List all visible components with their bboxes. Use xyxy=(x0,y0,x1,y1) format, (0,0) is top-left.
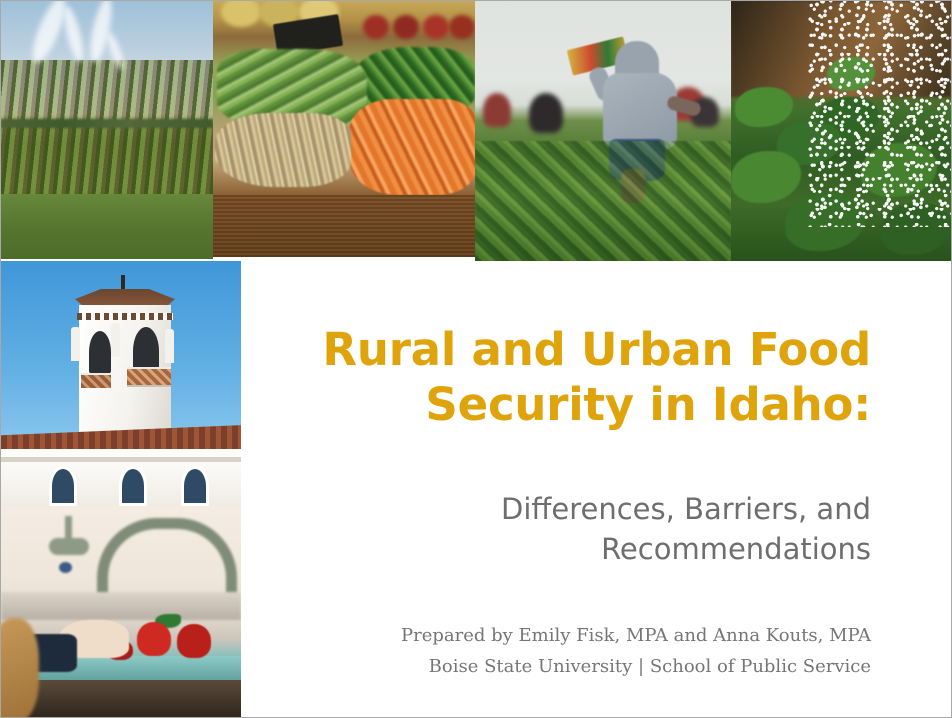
squash xyxy=(221,1,261,27)
tower-arch-opening xyxy=(89,331,111,373)
image-aerial-crop-field-rows xyxy=(1,1,213,259)
cloud-streak xyxy=(104,31,126,72)
onion-roots xyxy=(215,113,351,187)
worker-torso xyxy=(603,73,677,149)
facade-ledge xyxy=(1,457,241,462)
leaf xyxy=(731,151,801,203)
burlap-table-surface xyxy=(213,195,475,257)
tower-pinnacle xyxy=(71,327,80,361)
arched-window xyxy=(119,466,147,506)
apple xyxy=(363,15,389,39)
image-farm-worker-carrying-crate xyxy=(475,1,731,261)
strawberry xyxy=(137,622,171,656)
arched-window xyxy=(181,466,209,506)
title-text-pane: Rural and Urban Food Security in Idaho: … xyxy=(241,261,951,717)
byline-affiliation: Boise State University | School of Publi… xyxy=(271,652,871,683)
strawberry xyxy=(177,624,211,658)
tower-pinnacle xyxy=(165,329,174,363)
kitchen-backsplash xyxy=(1,592,241,620)
image-boise-depot-tower xyxy=(1,261,241,506)
byline: Prepared by Emily Fisk, MPA and Anna Kou… xyxy=(271,621,871,683)
presentation-title-slide: Rural and Urban Food Security in Idaho: … xyxy=(0,0,952,718)
faucet xyxy=(97,518,237,595)
page-title-line-1: Rural and Urban Food xyxy=(322,323,871,376)
page-subtitle: Differences, Barriers, and Recommendatio… xyxy=(271,489,871,569)
water-spray-droplets xyxy=(807,1,951,227)
background-worker xyxy=(529,93,563,133)
apple xyxy=(449,15,475,39)
dentil-belt-course xyxy=(77,313,173,320)
page-subtitle-line-2: Recommendations xyxy=(601,532,871,566)
apple xyxy=(423,15,449,39)
apple xyxy=(393,15,419,39)
image-watering-garden-greens xyxy=(731,1,951,261)
faucet-knob xyxy=(59,562,72,573)
sink-sprayer-head xyxy=(49,538,89,555)
leaf xyxy=(735,87,793,127)
image-child-reaching-strawberries xyxy=(1,506,241,718)
horizon-tree-line xyxy=(1,119,213,128)
crop-foliage xyxy=(475,141,731,261)
byline-authors: Prepared by Emily Fisk, MPA and Anna Kou… xyxy=(271,621,871,652)
cloud-streak xyxy=(60,4,87,63)
page-title-line-2: Security in Idaho: xyxy=(425,378,871,431)
tower-balcony xyxy=(127,367,171,387)
child-hair xyxy=(1,618,39,718)
page-title: Rural and Urban Food Security in Idaho: xyxy=(271,323,871,433)
arched-window xyxy=(49,466,77,506)
carrot-bundle xyxy=(349,99,475,195)
image-farmers-market-produce xyxy=(213,1,475,257)
tower-finial xyxy=(121,275,125,291)
page-subtitle-line-1: Differences, Barriers, and xyxy=(501,492,871,526)
tower-balcony xyxy=(81,373,111,388)
background-worker xyxy=(483,93,511,127)
tower-pinnacle xyxy=(111,323,120,357)
